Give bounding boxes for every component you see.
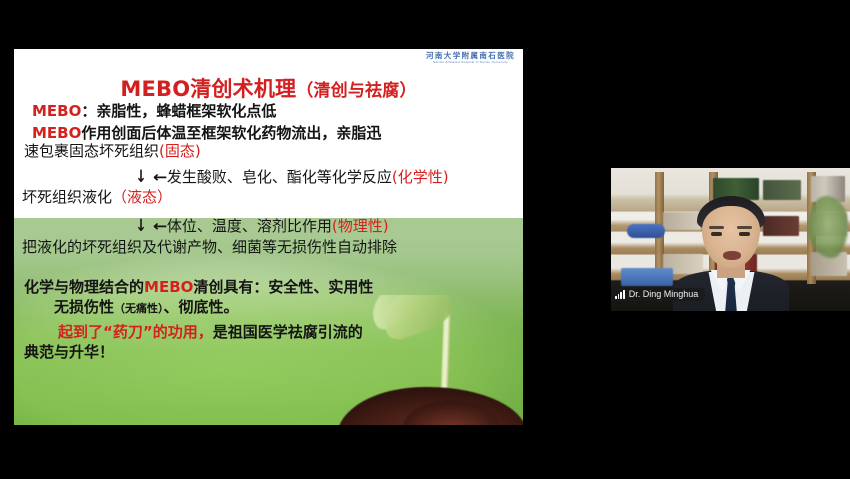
slide-line-blade-1: 起到了“药刀”的功用，是祖国医学祛腐引流的 <box>58 324 363 341</box>
blue-object-decor <box>627 224 665 238</box>
slide-title-paren: （清创与祛腐） <box>296 81 416 101</box>
chemical-reaction-text: 发生酸败、皂化、酯化等化学反应 <box>167 168 392 186</box>
mebo-keyword: MEBO <box>32 124 81 142</box>
combination-suffix: 清创具有：安全性、实用性 <box>193 278 373 296</box>
slide-line-mebo-action-2: 速包裹固态坏死组织(固态) <box>24 143 201 160</box>
slide-title-main: MEBO清创术机理 <box>120 77 296 101</box>
plant-decor-icon <box>808 196 848 258</box>
speaker-eyebrow-right <box>737 226 752 229</box>
participant-video-tile[interactable]: Dr. Ding Minghua <box>611 168 850 311</box>
slide-line-mebo-action-1: MEBO作用创面后体温至框架软化药物流出，亲脂迅 <box>32 125 381 142</box>
slide-line-mebo-action-1-text: 作用创面后体温至框架软化药物流出，亲脂迅 <box>81 124 381 142</box>
arrow-down-icon: ↓ <box>135 216 146 236</box>
slide-line-expel: 把液化的坏死组织及代谢产物、细菌等无损伤性自动排除 <box>22 239 397 256</box>
slide-text-layer: 河南大学附属南石医院 Nanshi Affiliated Hospital of… <box>14 49 523 425</box>
arrow-left-icon: ← <box>153 217 167 235</box>
slide-title: MEBO清创术机理（清创与祛腐） <box>14 73 523 103</box>
blue-folder-decor <box>621 268 673 286</box>
hospital-logo: 河南大学附属南石医院 Nanshi Affiliated Hospital of… <box>426 52 515 64</box>
arrow-down-icon: ↓ <box>135 167 146 187</box>
slide-line-mebo-action-2-text: 速包裹固态坏死组织 <box>24 142 159 160</box>
mebo-keyword: MEBO <box>144 278 193 296</box>
solid-state-tag: (固态) <box>159 142 201 160</box>
painless-note: （无痛性） <box>114 302 164 315</box>
speaker-eyebrow-left <box>709 226 724 229</box>
combination-prefix: 化学与物理结合的 <box>24 278 144 296</box>
slide-arrow-row-chemical: ↓←发生酸败、皂化、酯化等化学反应(化学性) <box>134 166 449 187</box>
slide-line-liquefaction: 坏死组织液化（液态） <box>22 189 172 206</box>
slide-line-combination-2: 无损伤性（无痛性）、彻底性。 <box>54 299 239 316</box>
shared-screen-slide[interactable]: 河南大学附属南石医院 Nanshi Affiliated Hospital of… <box>14 49 523 425</box>
physical-property-tag: (物理性) <box>332 217 389 235</box>
slide-line-blade-2: 典范与升华！ <box>24 344 114 361</box>
speaker-eye-left <box>711 232 722 236</box>
hospital-logo-en: Nanshi Affiliated Hospital of Henan Univ… <box>426 61 515 64</box>
speaker-mouth <box>723 251 741 260</box>
non-injury-text: 无损伤性 <box>54 298 114 316</box>
hospital-logo-cn: 河南大学附属南石医院 <box>426 52 515 60</box>
slide-arrow-row-physical: ↓←体位、温度、溶剂比作用(物理性) <box>134 215 389 236</box>
slide-line-mebo-properties-text: ：亲脂性，蜂蜡框架软化点低 <box>81 102 276 120</box>
blade-rest-text: 是祖国医学祛腐引流的 <box>213 323 363 341</box>
liquid-state-tag: （液态） <box>112 188 172 206</box>
thoroughness-text: 、彻底性。 <box>164 298 239 316</box>
speaker-eye-right <box>739 232 750 236</box>
participant-name-badge: Dr. Ding Minghua <box>611 288 705 301</box>
liquefaction-text: 坏死组织液化 <box>22 188 112 206</box>
signal-bars-icon <box>615 290 625 299</box>
slide-line-combination-1: 化学与物理结合的MEBO清创具有：安全性、实用性 <box>24 279 373 296</box>
arrow-left-icon: ← <box>153 168 167 186</box>
drug-blade-phrase: 起到了“药刀”的功用， <box>58 323 213 341</box>
zoom-meeting-window: 河南大学附属南石医院 Nanshi Affiliated Hospital of… <box>0 0 850 479</box>
mebo-keyword: MEBO <box>32 102 81 120</box>
participant-name-label: Dr. Ding Minghua <box>629 290 699 299</box>
slide-line-mebo-properties: MEBO：亲脂性，蜂蜡框架软化点低 <box>32 103 276 120</box>
chemical-property-tag: (化学性) <box>392 168 449 186</box>
physical-factor-text: 体位、温度、溶剂比作用 <box>167 217 332 235</box>
